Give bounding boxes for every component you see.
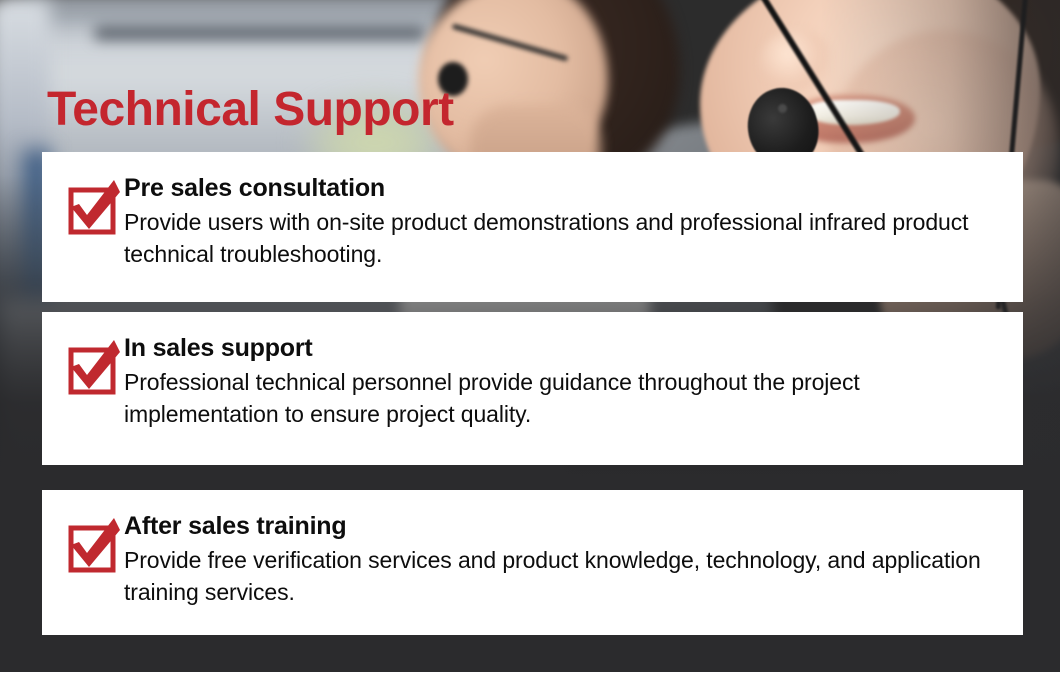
feature-card: Pre sales consultation Provide users wit… bbox=[42, 152, 1023, 302]
checkbox-checked-icon bbox=[62, 338, 124, 396]
bottom-white-strip bbox=[0, 672, 1060, 692]
feature-card: In sales support Professional technical … bbox=[42, 312, 1023, 465]
feature-card-title: After sales training bbox=[124, 512, 999, 542]
page-title: Technical Support bbox=[47, 84, 454, 136]
checkbox-checked-icon bbox=[62, 178, 124, 236]
feature-card-title: Pre sales consultation bbox=[124, 174, 999, 204]
feature-card-description: Provide free verification services and p… bbox=[124, 544, 999, 609]
feature-card-title: In sales support bbox=[124, 334, 999, 364]
feature-card-body: Pre sales consultation Provide users wit… bbox=[124, 152, 1023, 271]
feature-card-description: Professional technical personnel provide… bbox=[124, 366, 999, 431]
technical-support-slide: Technical Support Pre sales consultation… bbox=[0, 0, 1060, 692]
feature-card-description: Provide users with on-site product demon… bbox=[124, 206, 999, 271]
checkbox-checked-icon bbox=[62, 516, 124, 574]
feature-card: After sales training Provide free verifi… bbox=[42, 490, 1023, 635]
feature-card-body: After sales training Provide free verifi… bbox=[124, 490, 1023, 609]
feature-card-body: In sales support Professional technical … bbox=[124, 312, 1023, 431]
